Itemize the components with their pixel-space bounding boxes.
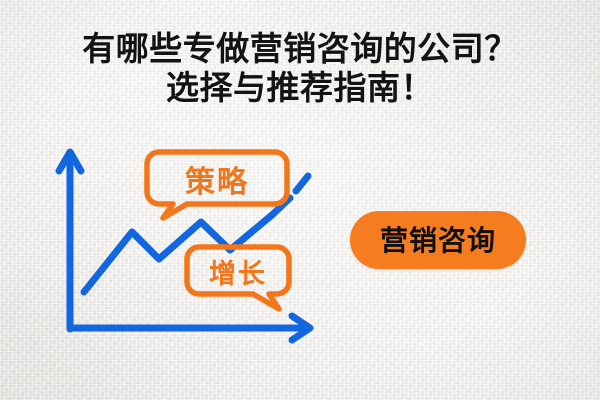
poster-canvas: 有哪些专做营销咨询的公司？ 选择与推荐指南！ 策略 xyxy=(0,0,600,400)
speech-bubble-growth-outline xyxy=(183,243,293,300)
chart-trend-dash xyxy=(296,176,308,191)
page-title: 有哪些专做营销咨询的公司？ 选择与推荐指南！ xyxy=(0,30,600,108)
speech-bubble-strategy: 策略 xyxy=(143,148,291,210)
page-title-line-2: 选择与推荐指南！ xyxy=(0,68,600,108)
status-badge-label: 营销咨询 xyxy=(380,219,496,261)
speech-bubble-strategy-outline xyxy=(143,148,291,210)
speech-bubble-growth: 增长 xyxy=(183,243,293,300)
page-title-line-1: 有哪些专做营销咨询的公司？ xyxy=(0,30,600,68)
status-badge: 营销咨询 xyxy=(350,211,526,269)
